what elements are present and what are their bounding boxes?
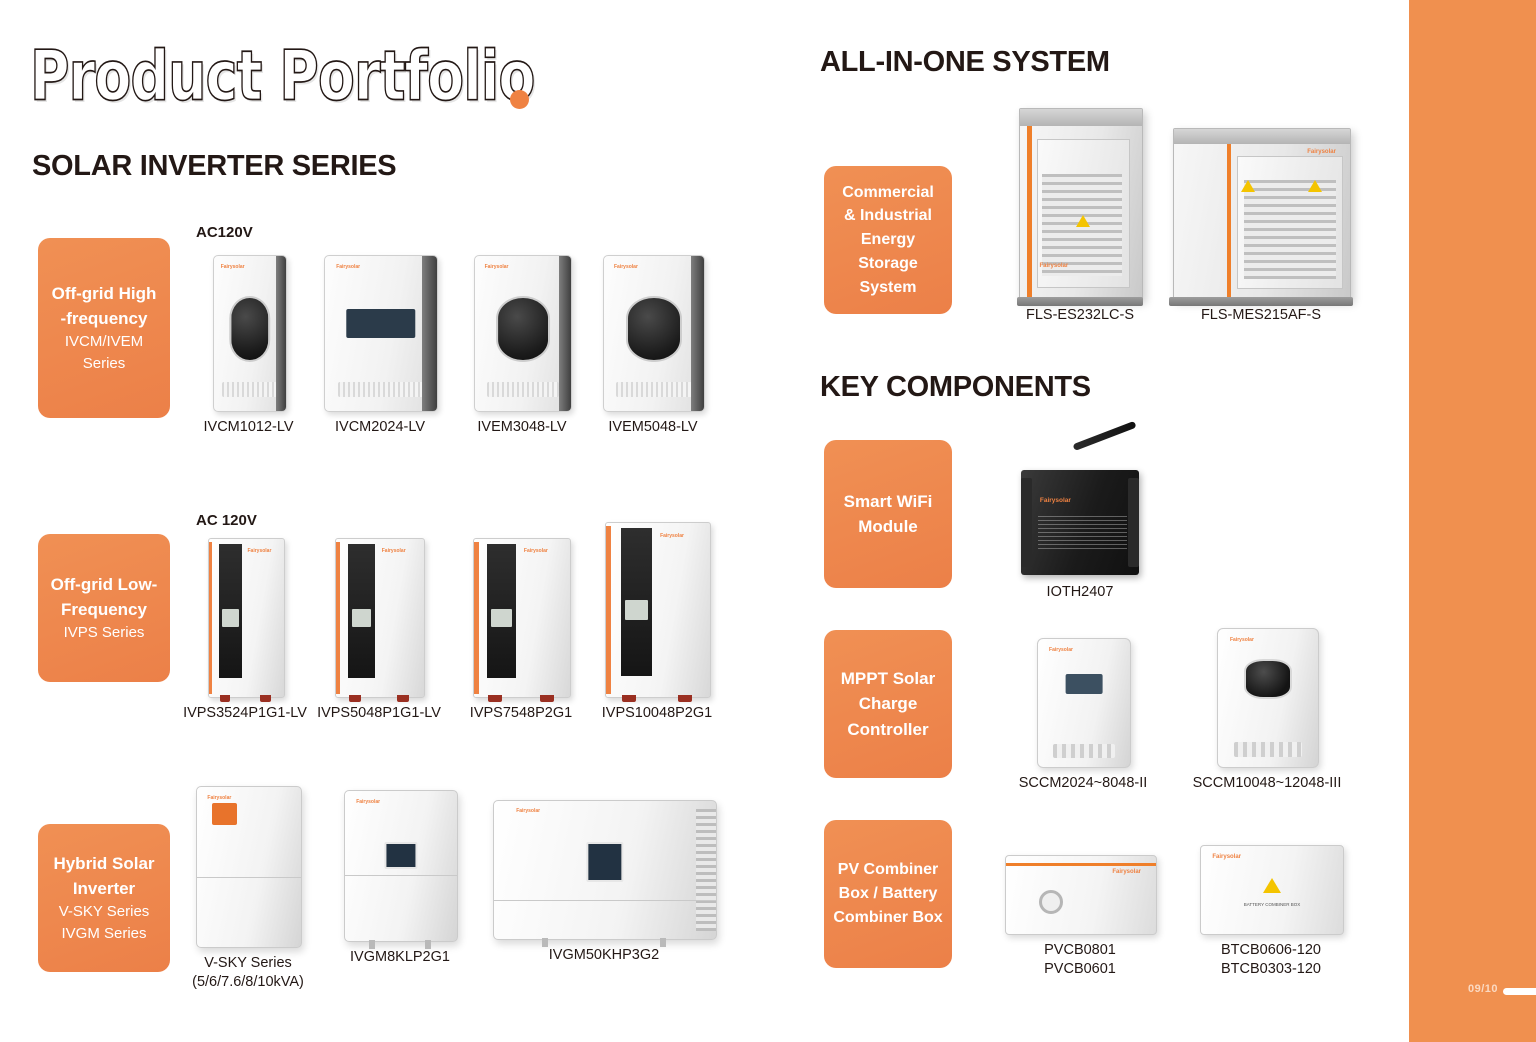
chip-main-line: Commercial: [842, 181, 934, 205]
product-image-ivps5048p1g1-lv: Fairysolar: [335, 538, 423, 696]
brand-logo-mark: Fairysolar: [1112, 869, 1141, 875]
product-caption: IVGM8KLP2G1: [350, 948, 450, 967]
product-image-v-sky-series: Fairysolar: [196, 786, 300, 946]
chip-main-line: Storage: [858, 252, 918, 276]
brand-logo-mark: Fairysolar: [356, 799, 380, 805]
chip-main-line: Charge: [859, 691, 918, 716]
product-caption: FLS-ES232LC-S: [1026, 306, 1134, 325]
category-chip-commercial-industrial-ess[interactable]: Commercial & Industrial Energy Storage S…: [824, 166, 952, 314]
section-heading-all-in-one: ALL-IN-ONE SYSTEM: [820, 46, 1110, 79]
product-image-fls-mes215af-s: Fairysolar: [1173, 128, 1349, 298]
title-accent-dot: [510, 90, 529, 109]
product-image-ivps7548p2g1: Fairysolar: [473, 538, 569, 696]
chip-sub-line: Series: [83, 353, 126, 375]
chip-main-line: Smart WiFi: [844, 489, 933, 514]
brand-logo-mark: Fairysolar: [1230, 637, 1254, 643]
chip-sub-line: IVCM/IVEM: [65, 331, 143, 353]
chip-main-line: MPPT Solar: [841, 666, 935, 691]
brand-logo-mark: Fairysolar: [1040, 263, 1069, 269]
chip-main-line: Box / Battery: [839, 882, 938, 906]
product-caption: IVCM2024-LV: [335, 418, 425, 437]
brand-logo-mark: Fairysolar: [248, 548, 272, 554]
brand-logo-mark: Fairysolar: [1307, 149, 1336, 155]
voltage-label-ac120v-hf: AC120V: [196, 224, 253, 241]
product-cell[interactable]: Fairysolar BATTERY COMBINER BOX BTCB0606…: [1186, 845, 1356, 979]
product-caption: IOTH2407: [1047, 583, 1114, 602]
chip-main-line: Off-grid High: [52, 281, 157, 306]
chip-main-line: System: [860, 276, 917, 300]
product-cell[interactable]: Fairysolar FLS-ES232LC-S: [1000, 108, 1160, 325]
chip-main-line: & Industrial: [844, 204, 932, 228]
page-number-rule: [1503, 988, 1536, 995]
category-chip-off-grid-low-frequency[interactable]: Off-grid Low- Frequency IVPS Series: [38, 534, 170, 682]
product-cell[interactable]: Fairysolar SCCM2024~8048-II: [1000, 638, 1166, 793]
product-caption: BTCB0606-120 BTCB0303-120: [1221, 941, 1321, 979]
chip-main-line: -frequency: [61, 306, 148, 331]
lock-icon: [1039, 890, 1063, 914]
product-caption: IVEM5048-LV: [608, 418, 697, 437]
category-chip-pv-battery-combiner-box[interactable]: PV Combiner Box / Battery Combiner Box: [824, 820, 952, 968]
brand-logo-mark: Fairysolar: [516, 808, 540, 814]
caution-text: BATTERY COMBINER BOX: [1244, 902, 1301, 907]
voltage-label-ac120v-lf: AC 120V: [196, 512, 257, 529]
category-chip-hybrid-solar-inverter[interactable]: Hybrid Solar Inverter V-SKY Series IVGM …: [38, 824, 170, 972]
category-chip-smart-wifi-module[interactable]: Smart WiFi Module: [824, 440, 952, 588]
product-image-ivgm50khp3g2: Fairysolar: [493, 800, 715, 938]
product-image-ivcm2024-lv: Fairysolar: [324, 255, 436, 410]
product-image-sccm10048-12048-iii: Fairysolar: [1217, 628, 1317, 766]
chip-main-line: Off-grid Low-: [51, 572, 158, 597]
product-cell[interactable]: Fairysolar FLS-MES215AF-S: [1172, 128, 1350, 325]
high-voltage-warning-icon: [1263, 878, 1281, 893]
chip-sub-line: IVGM Series: [61, 923, 146, 945]
product-image-btcb-series: Fairysolar BATTERY COMBINER BOX: [1200, 845, 1342, 933]
product-cell[interactable]: Fairysolar IVEM3048-LV: [462, 255, 582, 437]
product-cell[interactable]: Fairysolar IOTH2407: [1000, 470, 1160, 602]
product-cell[interactable]: Fairysolar IVPS5048P1G1-LV: [314, 538, 444, 723]
chip-sub-line: IVPS Series: [64, 622, 145, 644]
page-title: Product Portfolio: [30, 36, 534, 116]
product-image-sccm2024-8048-ii: Fairysolar: [1037, 638, 1129, 766]
chip-main-line: Inverter: [73, 876, 135, 901]
product-image-ivgm8klp2g1: Fairysolar: [344, 790, 456, 940]
product-image-ivem5048-lv: Fairysolar: [603, 255, 703, 410]
product-caption: FLS-MES215AF-S: [1201, 306, 1321, 325]
brand-logo-mark: Fairysolar: [614, 264, 638, 270]
product-caption: SCCM10048~12048-III: [1193, 774, 1342, 793]
brand-logo-mark: Fairysolar: [221, 264, 245, 270]
product-image-ioth2407: Fairysolar: [1021, 470, 1139, 575]
chip-main-line: Combiner Box: [833, 906, 942, 930]
product-caption: SCCM2024~8048-II: [1019, 774, 1148, 793]
chip-main-line: PV Combiner: [838, 858, 938, 882]
product-caption: IVPS10048P2G1: [602, 704, 712, 723]
product-image-fls-es232lc-s: Fairysolar: [1019, 108, 1141, 298]
chip-main-line: Energy: [861, 228, 915, 252]
antenna-icon: [1073, 421, 1137, 451]
brand-logo-mark: Fairysolar: [1040, 497, 1071, 504]
product-caption: IVCM1012-LV: [204, 418, 294, 437]
product-cell[interactable]: Fairysolar SCCM10048~12048-III: [1182, 628, 1352, 793]
category-chip-mppt-solar-charge-controller[interactable]: MPPT Solar Charge Controller: [824, 630, 952, 778]
product-cell[interactable]: Fairysolar IVCM2024-LV: [317, 255, 443, 437]
product-caption: IVPS3524P1G1-LV: [183, 704, 307, 723]
section-heading-solar-inverter: SOLAR INVERTER SERIES: [32, 150, 396, 183]
chip-main-line: Frequency: [61, 597, 147, 622]
product-caption: IVPS7548P2G1: [470, 704, 572, 723]
brand-logo-mark: Fairysolar: [1212, 854, 1241, 860]
product-cell[interactable]: Fairysolar IVEM5048-LV: [592, 255, 714, 437]
brand-logo-mark: Fairysolar: [1049, 647, 1073, 653]
brand-logo-mark: Fairysolar: [524, 548, 548, 554]
right-edge-accent-bar: [1409, 0, 1536, 1042]
category-chip-off-grid-high-frequency[interactable]: Off-grid High -frequency IVCM/IVEM Serie…: [38, 238, 170, 418]
page-number: 09/10: [1468, 983, 1498, 995]
product-image-ivps3524p1g1-lv: Fairysolar: [208, 538, 283, 696]
product-image-pvcb-series: Fairysolar: [1005, 855, 1155, 933]
product-caption: PVCB0801 PVCB0601: [1044, 941, 1116, 979]
product-image-ivps10048p2g1: Fairysolar: [605, 522, 709, 696]
product-cell[interactable]: Fairysolar IVPS3524P1G1-LV: [180, 538, 310, 723]
product-cell[interactable]: Fairysolar V-SKY Series (5/6/7.6/8/10kVA…: [178, 786, 318, 992]
chip-main-line: Controller: [847, 717, 928, 742]
brand-logo-mark: Fairysolar: [485, 264, 509, 270]
product-cell[interactable]: Fairysolar IVGM8KLP2G1: [330, 790, 470, 967]
product-image-ivem3048-lv: Fairysolar: [474, 255, 570, 410]
product-cell[interactable]: Fairysolar IVPS10048P2G1: [592, 522, 722, 723]
chip-sub-line: V-SKY Series: [59, 901, 150, 923]
section-heading-key-components: KEY COMPONENTS: [820, 371, 1091, 404]
product-cell[interactable]: Fairysolar IVPS7548P2G1: [456, 538, 586, 723]
brand-logo-mark: Fairysolar: [336, 264, 360, 270]
product-caption: IVEM3048-LV: [477, 418, 566, 437]
product-cell[interactable]: Fairysolar IVGM50KHP3G2: [486, 800, 722, 965]
brand-logo-mark: Fairysolar: [660, 533, 684, 539]
product-cell[interactable]: Fairysolar IVCM1012-LV: [191, 255, 306, 437]
brand-logo-mark: Fairysolar: [207, 795, 231, 801]
product-image-ivcm1012-lv: Fairysolar: [213, 255, 285, 410]
product-cell[interactable]: Fairysolar PVCB0801 PVCB0601: [995, 855, 1165, 979]
chip-main-line: Hybrid Solar: [53, 851, 154, 876]
chip-main-line: Module: [858, 514, 918, 539]
product-caption: IVGM50KHP3G2: [549, 946, 659, 965]
product-caption: IVPS5048P1G1-LV: [317, 704, 441, 723]
brand-logo-mark: Fairysolar: [382, 548, 406, 554]
product-caption: V-SKY Series (5/6/7.6/8/10kVA): [192, 954, 304, 992]
